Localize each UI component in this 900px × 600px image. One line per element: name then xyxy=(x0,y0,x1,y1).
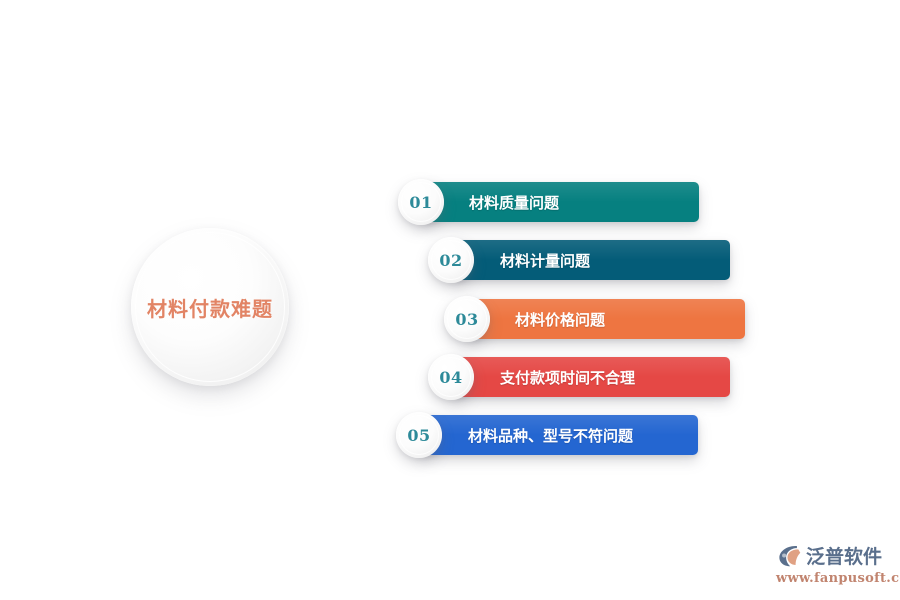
item-number-circle[interactable]: 01 xyxy=(398,179,444,225)
item-number: 01 xyxy=(409,193,432,212)
item-number-circle[interactable]: 04 xyxy=(428,354,474,400)
item-number: 05 xyxy=(407,426,430,445)
item-number: 02 xyxy=(439,251,462,270)
item-bar[interactable]: 材料品种、型号不符问题 xyxy=(421,415,698,455)
bar-highlight xyxy=(422,182,699,202)
item-label: 材料计量问题 xyxy=(500,250,590,271)
brand-logo: 泛普软件 www.fanpusoft.com xyxy=(776,540,892,592)
infographic-canvas: 材料付款难题 材料质量问题01材料计量问题02材料价格问题03支付款项时间不合理… xyxy=(0,0,900,600)
item-label: 材料价格问题 xyxy=(515,309,605,330)
fanpu-swoosh-icon xyxy=(776,542,803,569)
item-number-circle[interactable]: 02 xyxy=(428,237,474,283)
bar-highlight xyxy=(468,299,745,319)
bar-highlight xyxy=(453,240,730,260)
item-label: 材料品种、型号不符问题 xyxy=(468,425,633,446)
hub-title: 材料付款难题 xyxy=(147,293,273,322)
item-bar[interactable]: 材料计量问题 xyxy=(453,240,730,280)
brand-logo-row: 泛普软件 xyxy=(776,540,892,570)
item-number: 03 xyxy=(455,310,478,329)
center-hub-circle: 材料付款难题 xyxy=(131,228,289,386)
brand-url: www.fanpusoft.com xyxy=(776,571,892,586)
item-bar[interactable]: 材料价格问题 xyxy=(468,299,745,339)
item-number: 04 xyxy=(439,368,462,387)
brand-name: 泛普软件 xyxy=(806,542,882,569)
item-label: 材料质量问题 xyxy=(469,192,559,213)
item-label: 支付款项时间不合理 xyxy=(500,367,635,388)
item-bar[interactable]: 支付款项时间不合理 xyxy=(453,357,730,397)
item-bar[interactable]: 材料质量问题 xyxy=(422,182,699,222)
item-number-circle[interactable]: 03 xyxy=(444,296,490,342)
item-number-circle[interactable]: 05 xyxy=(396,412,442,458)
